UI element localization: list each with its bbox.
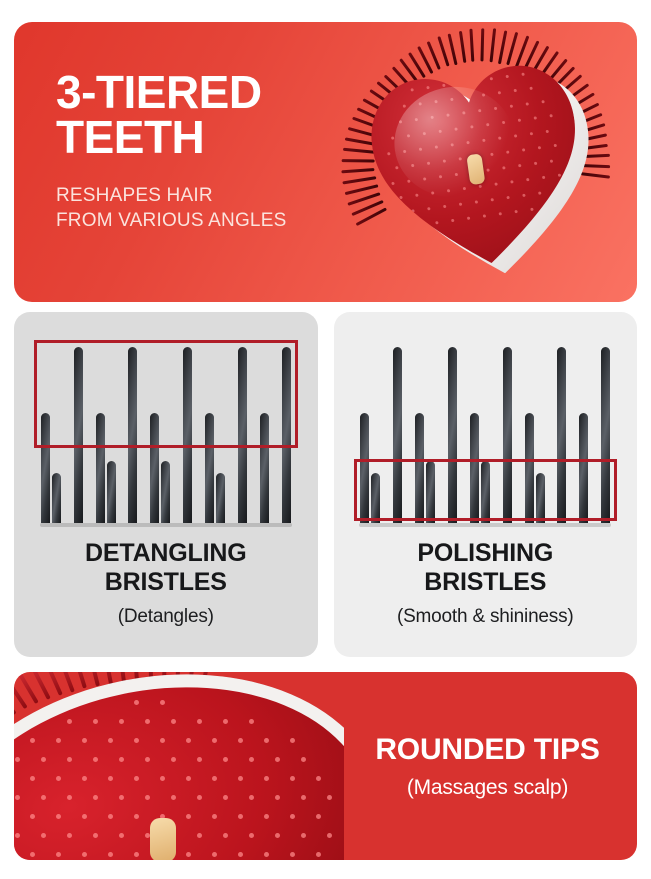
bristle-tip-dot xyxy=(391,182,394,185)
bristle-t3 xyxy=(107,461,116,523)
bristle-cluster xyxy=(525,413,545,523)
bristle-tip-dot xyxy=(514,210,517,213)
rounded-tip-dot xyxy=(160,776,165,781)
bristle-tip-dot xyxy=(454,127,457,130)
bristle-tip-dot xyxy=(427,162,430,165)
comb-bristle-group xyxy=(360,345,610,523)
bristle-tip-dot xyxy=(451,143,454,146)
bristle-tip-dot xyxy=(459,157,462,160)
bristle-t1 xyxy=(238,347,247,523)
brush-bristle xyxy=(582,172,611,178)
bristle-tip-dot xyxy=(410,88,413,91)
rounded-tip-dot xyxy=(30,776,35,781)
rounded-tip-dot xyxy=(249,795,254,800)
bristle-tip-dot xyxy=(502,121,505,124)
brush-center-accent xyxy=(466,153,485,185)
bristle-tip-dot xyxy=(434,100,437,103)
rounded-tip-dot xyxy=(30,852,35,857)
rounded-tip-dot xyxy=(290,852,295,857)
bristle-cluster xyxy=(579,413,588,523)
brush-bristle xyxy=(575,113,603,126)
rounded-tip-dot xyxy=(186,814,191,819)
rounded-tip-dot xyxy=(290,776,295,781)
bristle-cluster xyxy=(393,347,402,523)
bristle-cluster xyxy=(41,413,61,523)
bristle-tip-dot xyxy=(499,212,502,215)
rounded-tip-dot xyxy=(212,776,217,781)
bristle-t1 xyxy=(448,347,457,523)
bristle-cluster xyxy=(448,347,457,523)
brush-bristle xyxy=(537,51,558,80)
rounded-tip-dot xyxy=(264,814,269,819)
rounded-tip-dot xyxy=(67,795,72,800)
bristle-tip-dot xyxy=(391,136,394,139)
rounded-tip-dot xyxy=(15,757,20,762)
bristle-cluster xyxy=(238,347,247,523)
brush-bristle xyxy=(427,41,441,70)
rounded-tip-dot xyxy=(275,795,280,800)
bristle-t1 xyxy=(74,347,83,523)
comb-illustration-polishing xyxy=(346,326,626,531)
brush-bristle xyxy=(408,52,425,78)
rounded-tip-dot xyxy=(134,776,139,781)
rounded-tip-dot xyxy=(327,795,332,800)
bristle-cluster xyxy=(96,413,116,523)
bristle-tip-dot xyxy=(443,205,446,208)
rounded-tip-dot xyxy=(223,833,228,838)
bristle-tip-dot xyxy=(474,155,477,158)
card-caption-detangling: DETANGLING BRISTLES (Detangles) xyxy=(14,531,318,628)
rounded-tip-dot xyxy=(119,833,124,838)
card-title-polishing: POLISHING BRISTLES xyxy=(344,539,628,597)
rounded-tip-dot xyxy=(93,719,98,724)
rounded-tip-dot xyxy=(301,757,306,762)
bristle-tip-dot xyxy=(534,162,537,165)
bristle-tip-dot xyxy=(502,166,505,169)
bristle-tip-dot xyxy=(439,175,442,178)
bristle-tip-dot xyxy=(530,132,533,135)
bristle-tip-dot xyxy=(506,150,509,153)
bristle-tip-dot xyxy=(530,208,533,211)
bristle-tip-dot xyxy=(423,132,426,135)
bristle-tip-dot xyxy=(506,196,509,199)
rounded-tip-dot xyxy=(264,852,269,857)
rounded-tip-dot xyxy=(93,795,98,800)
rounded-tip-dot xyxy=(108,776,113,781)
rounded-tip-dot xyxy=(301,833,306,838)
bristle-cluster xyxy=(360,413,380,523)
bristle-tip-dot xyxy=(549,114,552,117)
bristle-tip-dot xyxy=(510,105,513,108)
bristle-cluster xyxy=(128,347,137,523)
comb-base-line xyxy=(359,523,611,527)
hero-title-line-1: 3-TIERED xyxy=(56,70,386,115)
bristle-tip-dot xyxy=(403,150,406,153)
bristle-tip-dot xyxy=(514,89,517,92)
rounded-tip-dot xyxy=(275,833,280,838)
bristle-t2 xyxy=(360,413,369,523)
bristle-tip-dot xyxy=(407,134,410,137)
brush-bristle xyxy=(544,58,567,85)
bristle-tip-dot xyxy=(431,191,434,194)
bristle-tip-dot xyxy=(463,187,466,190)
bristle-tip-dot xyxy=(450,98,453,101)
rounded-tip-dot xyxy=(67,719,72,724)
brush-red-face xyxy=(358,44,597,283)
rounded-tip-dot xyxy=(108,852,113,857)
bristle-tip-dot xyxy=(498,136,501,139)
bristle-t3b xyxy=(371,473,380,523)
comb-base-line xyxy=(40,523,292,527)
rounded-tip-dot xyxy=(67,833,72,838)
brush-bristle xyxy=(582,164,610,168)
rounded-tip-dot xyxy=(41,757,46,762)
bristle-t2 xyxy=(470,413,479,523)
rounded-tip-dot xyxy=(197,757,202,762)
brush-bristle xyxy=(437,37,449,68)
bristle-t2 xyxy=(579,413,588,523)
rounded-tip-dot xyxy=(212,814,217,819)
rounded-tip-dot xyxy=(15,833,20,838)
brush-bristle xyxy=(448,33,458,65)
rounded-tip-dot xyxy=(145,757,150,762)
rounded-tip-dot xyxy=(56,738,61,743)
bristle-tip-dot xyxy=(415,194,418,197)
card-caption-polishing: POLISHING BRISTLES (Smooth & shininess) xyxy=(334,531,638,628)
rounded-tip-dot xyxy=(119,719,124,724)
brush-tooth xyxy=(85,672,100,686)
rounded-tip-dot xyxy=(93,757,98,762)
brush-bristle xyxy=(459,31,466,63)
rounded-tip-dot xyxy=(316,852,321,857)
bristle-cluster xyxy=(205,413,225,523)
bristle-tip-dot xyxy=(510,180,513,183)
bristle-tip-dot xyxy=(550,159,553,162)
card-title-line-1: DETANGLING xyxy=(24,539,308,568)
rounded-tip-dot xyxy=(145,795,150,800)
rounded-tip-dot xyxy=(212,738,217,743)
rounded-tip-dot xyxy=(30,738,35,743)
bristle-tip-dot xyxy=(399,120,402,123)
bristle-tip-dot xyxy=(526,102,529,105)
bristle-tip-dot xyxy=(542,176,545,179)
bristle-t1 xyxy=(183,347,192,523)
rounded-tip-dot xyxy=(41,795,46,800)
bristle-tip-dot xyxy=(427,207,430,210)
bristle-tip-dot xyxy=(538,191,541,194)
rounded-tip-dot xyxy=(56,814,61,819)
bristle-tip-dot xyxy=(471,171,474,174)
bottom-note: (Massages scalp) xyxy=(407,776,568,800)
hero-banner: 3-TIERED TEETH RESHAPES HAIR FROM VARIOU… xyxy=(14,22,637,302)
bristle-t2 xyxy=(150,413,159,523)
rounded-tip-dot xyxy=(145,719,150,724)
bristle-t2 xyxy=(41,413,50,523)
rounded-tip-dot xyxy=(160,738,165,743)
bristle-tip-dot xyxy=(534,116,537,119)
bristle-tip-dot xyxy=(486,123,489,126)
brush-bristle xyxy=(470,29,475,62)
brush-center-accent xyxy=(150,818,176,860)
bristle-tip-dot xyxy=(419,102,422,105)
card-title-detangling: DETANGLING BRISTLES xyxy=(24,539,308,597)
bristle-tip-dot xyxy=(518,164,521,167)
comb-bristle-group xyxy=(41,345,291,523)
brush-closeup-rounded-tips-photo xyxy=(14,672,344,860)
bristle-tip-dot xyxy=(399,196,402,199)
hero-subtitle-line-1: RESHAPES HAIR xyxy=(56,184,386,209)
bottom-title: ROUNDED TIPS xyxy=(375,733,599,766)
bristle-t1 xyxy=(557,347,566,523)
bristle-tip-dot xyxy=(546,130,549,133)
bristle-tip-dot xyxy=(494,107,497,110)
bristle-tip-dot xyxy=(446,113,449,116)
bristle-tip-dot xyxy=(395,166,398,169)
brush-white-rim xyxy=(14,672,344,860)
rounded-tip-dot xyxy=(223,719,228,724)
brush-bristle xyxy=(506,32,518,65)
rounded-tip-dot xyxy=(290,738,295,743)
rounded-tip-dot xyxy=(264,776,269,781)
brush-bristle xyxy=(417,46,433,74)
bristle-tip-dot xyxy=(467,217,470,220)
rounded-tip-dot xyxy=(186,738,191,743)
bristle-tip-dot xyxy=(494,182,497,185)
brush-gloss-highlight xyxy=(387,79,521,205)
bottom-text-block: ROUNDED TIPS (Massages scalp) xyxy=(344,672,637,860)
bristle-tip-dot xyxy=(491,198,494,201)
bristle-tip-dot xyxy=(518,119,521,122)
card-title-line-1: POLISHING xyxy=(344,539,628,568)
rounded-tip-dot xyxy=(238,738,243,743)
bristle-tip-dot xyxy=(541,100,544,103)
bristle-tip-dot xyxy=(474,79,477,82)
brush-bristle xyxy=(480,28,483,61)
brush-bristle xyxy=(522,40,539,72)
hero-text-block: 3-TIERED TEETH RESHAPES HAIR FROM VARIOU… xyxy=(56,70,386,234)
rounded-tip-dot xyxy=(82,738,87,743)
bristle-tip-dot xyxy=(466,141,469,144)
card-title-line-2: BRISTLES xyxy=(24,568,308,597)
rounded-tip-dot xyxy=(119,757,124,762)
hero-subtitle: RESHAPES HAIR FROM VARIOUS ANGLES xyxy=(56,184,386,233)
brush-bristle xyxy=(514,36,528,69)
bristle-tip-dot xyxy=(479,185,482,188)
rounded-tip-dot xyxy=(238,776,243,781)
bristle-tip-dot xyxy=(430,116,433,119)
bristle-tip-dot xyxy=(455,173,458,176)
hero-subtitle-line-2: FROM VARIOUS ANGLES xyxy=(56,209,386,234)
bristle-tip-dot xyxy=(498,91,501,94)
rounded-tip-dot xyxy=(316,776,321,781)
rounded-tip-dot xyxy=(249,757,254,762)
brush-bristle xyxy=(567,93,594,111)
bristle-t1 xyxy=(128,347,137,523)
bristle-cluster xyxy=(183,347,192,523)
bristle-tip-dot xyxy=(443,159,446,162)
rounded-tip-dot xyxy=(119,795,124,800)
bristle-tip-dot xyxy=(554,144,557,147)
bristle-cluster xyxy=(557,347,566,523)
rounded-tip-dot xyxy=(275,757,280,762)
rounded-tip-dot xyxy=(108,814,113,819)
rounded-tip-dot xyxy=(15,795,20,800)
rounded-tip-dot xyxy=(82,776,87,781)
bristle-tip-dot xyxy=(558,174,561,177)
brush-bristle xyxy=(489,29,495,63)
bristle-cluster xyxy=(74,347,83,523)
brush-bristle xyxy=(582,154,609,158)
rounded-tip-dot xyxy=(238,852,243,857)
bristle-tip-dot xyxy=(522,194,525,197)
brush-bristle xyxy=(384,74,405,94)
rounded-tip-dot xyxy=(134,852,139,857)
rounded-tip-dot xyxy=(223,795,228,800)
brush-bristle xyxy=(582,144,608,150)
bristle-tip-dot xyxy=(490,153,493,156)
bristle-t3 xyxy=(426,461,435,523)
rounded-tip-dot xyxy=(197,833,202,838)
comb-illustration-detangling xyxy=(26,326,306,531)
rounded-tip-dot xyxy=(249,833,254,838)
bristle-t1 xyxy=(282,347,291,523)
bristle-tip-dot xyxy=(458,81,461,84)
bristle-tip-dot xyxy=(403,104,406,107)
bristle-tip-dot xyxy=(490,77,493,80)
bristle-tip-dot xyxy=(538,146,541,149)
bristle-tip-dot xyxy=(387,152,390,155)
bristle-t2 xyxy=(525,413,534,523)
rounded-tip-dot xyxy=(290,814,295,819)
rounded-tip-dot xyxy=(134,814,139,819)
rounded-tip-dot xyxy=(56,852,61,857)
bristle-tip-dot xyxy=(447,189,450,192)
rounded-tip-dot xyxy=(186,852,191,857)
rounded-tip-dot xyxy=(82,814,87,819)
bristle-tip-dot xyxy=(486,168,489,171)
brush-white-shell xyxy=(371,54,610,293)
bristle-tip-dot xyxy=(423,177,426,180)
bristle-tip-dot xyxy=(483,214,486,217)
bristle-tip-dot xyxy=(526,178,529,181)
card-detangling-bristles: DETANGLING BRISTLES (Detangles) xyxy=(14,312,318,657)
bristle-tip-dot xyxy=(419,148,422,151)
bristle-t3 xyxy=(481,461,490,523)
bristle-tip-dot xyxy=(478,109,481,112)
bristle-tip-dot xyxy=(451,219,454,222)
bristle-t3 xyxy=(161,461,170,523)
bristle-cluster xyxy=(150,413,170,523)
bristle-tip-dot xyxy=(415,118,418,121)
rounded-tip-dot xyxy=(212,852,217,857)
feature-cards: DETANGLING BRISTLES (Detangles) POLISHIN… xyxy=(14,312,637,657)
bristle-t3b xyxy=(52,473,61,523)
bristle-t3b xyxy=(216,473,225,523)
bristle-tip-dot xyxy=(475,200,478,203)
bristle-t3b xyxy=(536,473,545,523)
card-polishing-bristles: POLISHING BRISTLES (Smooth & shininess) xyxy=(334,312,638,657)
bristle-cluster xyxy=(601,347,610,523)
bristle-tip-dot xyxy=(442,84,445,87)
rounded-tip-dot xyxy=(160,700,165,705)
rounded-tip-dot xyxy=(197,795,202,800)
bristle-t1 xyxy=(393,347,402,523)
bristle-tip-dot xyxy=(435,145,438,148)
rounded-tip-dot xyxy=(223,757,228,762)
rounded-tip-dot xyxy=(93,833,98,838)
brush-bristle xyxy=(562,83,589,103)
rounded-tip-dot xyxy=(108,738,113,743)
rounded-tip-dot xyxy=(67,757,72,762)
bristle-tip-dot xyxy=(482,139,485,142)
bristle-cluster xyxy=(503,347,512,523)
bristle-tip-dot xyxy=(426,86,429,89)
bristle-tip-dot xyxy=(439,130,442,133)
brush-bristle xyxy=(578,123,605,134)
rounded-tip-dot xyxy=(171,719,176,724)
rounded-tip-dot xyxy=(171,757,176,762)
rounded-tip-dot xyxy=(134,738,139,743)
bristle-tip-dot xyxy=(470,125,473,128)
bristle-tip-dot xyxy=(466,96,469,99)
bristle-t1 xyxy=(601,347,610,523)
rounded-tip-dot xyxy=(186,776,191,781)
card-title-line-2: BRISTLES xyxy=(344,568,628,597)
brush-bristle xyxy=(530,45,549,75)
bristle-tip-dot xyxy=(482,93,485,96)
bristle-tip-dot xyxy=(514,134,517,137)
bristle-tip-dot xyxy=(435,221,438,224)
bristle-t2 xyxy=(96,413,105,523)
brush-bristle xyxy=(391,66,411,88)
brush-bristle xyxy=(580,133,607,141)
bristle-tip-dot xyxy=(459,203,462,206)
bristle-t2 xyxy=(205,413,214,523)
brush-bristle xyxy=(498,30,507,64)
bristle-tip-dot xyxy=(522,148,525,151)
bristle-cluster xyxy=(282,347,291,523)
brush-bristle xyxy=(399,59,418,83)
rounded-tip-dot xyxy=(301,795,306,800)
rounded-tip-dot xyxy=(134,700,139,705)
rounded-tip-dot xyxy=(327,833,332,838)
rounded-tip-dot xyxy=(41,833,46,838)
bristle-cluster xyxy=(415,413,435,523)
bristle-tip-dot xyxy=(521,73,524,76)
bristle-t1 xyxy=(503,347,512,523)
brush-bristle xyxy=(571,102,599,117)
rounded-tip-dot xyxy=(56,776,61,781)
brush-bristle-dots xyxy=(358,44,568,74)
rounded-tip-dot xyxy=(249,719,254,724)
bristle-tip-dot xyxy=(411,209,414,212)
rounded-tip-dot xyxy=(264,738,269,743)
hero-title-line-2: TEETH xyxy=(56,115,386,160)
card-note-polishing: (Smooth & shininess) xyxy=(344,606,628,628)
rounded-tip-dot xyxy=(30,814,35,819)
bristle-tip-dot xyxy=(411,164,414,167)
bristle-tip-dot xyxy=(407,180,410,183)
bristle-tip-dot xyxy=(462,111,465,114)
brush-bristle xyxy=(557,74,583,97)
bristle-t2 xyxy=(415,413,424,523)
card-note-detangling: (Detangles) xyxy=(24,606,308,628)
brush-bristle xyxy=(551,66,575,91)
rounded-tip-dot xyxy=(82,852,87,857)
rounded-tip-dot xyxy=(197,719,202,724)
bristle-tip-dot xyxy=(529,87,532,90)
rounded-tip-dot xyxy=(238,814,243,819)
